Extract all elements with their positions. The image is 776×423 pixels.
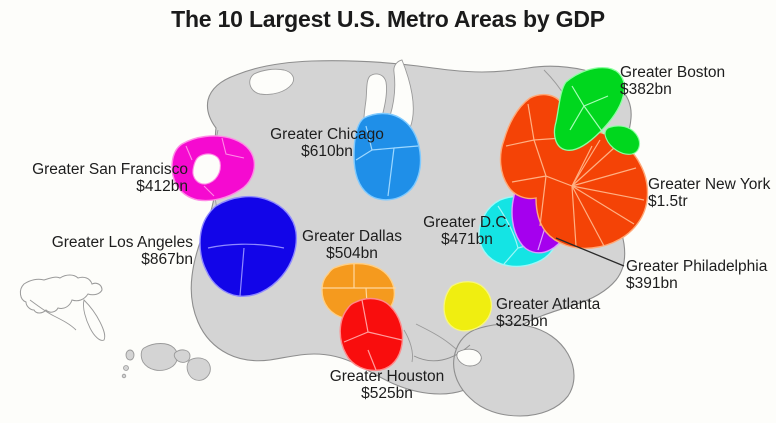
label-dallas-value: $504bn [296,245,408,262]
label-los-angeles-name: Greater Los Angeles [38,234,193,251]
label-boston-value: $382bn [620,81,725,98]
label-dc-value: $471bn [412,231,522,248]
infographic-root: The 10 Largest U.S. Metro Areas by GDP [0,0,776,423]
label-atlanta-value: $325bn [496,313,600,330]
hawaii-inset [122,344,210,381]
label-greater-boston: Greater Boston $382bn [620,64,725,98]
hawaii-island-1 [126,350,134,360]
label-greater-atlanta: Greater Atlanta $325bn [496,296,600,330]
label-greater-houston: Greater Houston $525bn [322,368,452,402]
florida-shape [454,324,574,416]
label-new-york-value: $1.5tr [648,193,770,210]
label-houston-name: Greater Houston [322,368,452,385]
label-philadelphia-value: $391bn [626,275,767,292]
hawaii-island-2 [124,366,129,371]
label-dallas-name: Greater Dallas [296,228,408,245]
label-new-york-name: Greater New York [648,176,770,193]
hawaii-island-3 [122,374,126,378]
label-houston-value: $525bn [322,385,452,402]
label-chicago-name: Greater Chicago [262,126,392,143]
label-greater-chicago: Greater Chicago $610bn [262,126,392,160]
label-philadelphia-name: Greater Philadelphia [626,258,767,275]
hawaii-island-big [187,358,210,380]
label-greater-new-york: Greater New York $1.5tr [648,176,770,210]
alaska-inset [20,275,104,340]
hawaii-island-maui [141,344,177,371]
label-dc-name: Greater D.C. [412,214,522,231]
label-chicago-value: $610bn [262,143,392,160]
alaska-panhandle-shape [83,300,104,340]
label-los-angeles-value: $867bn [38,251,193,268]
label-greater-dallas: Greater Dallas $504bn [296,228,408,262]
label-greater-dc: Greater D.C. $471bn [412,214,522,248]
label-san-francisco-name: Greater San Francisco [16,161,188,178]
label-greater-san-francisco: Greater San Francisco $412bn [16,161,188,195]
label-greater-los-angeles: Greater Los Angeles $867bn [38,234,193,268]
label-atlanta-name: Greater Atlanta [496,296,600,313]
label-greater-philadelphia: Greater Philadelphia $391bn [626,258,767,292]
label-boston-name: Greater Boston [620,64,725,81]
label-san-francisco-value: $412bn [16,178,188,195]
region-houston[interactable] [340,299,402,371]
